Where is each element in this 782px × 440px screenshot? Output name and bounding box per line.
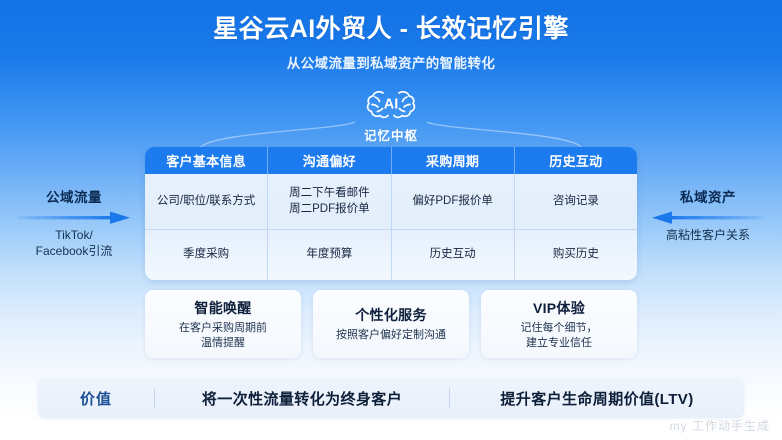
value-bar-key: 价值 — [38, 388, 154, 409]
feature-card-desc: 在客户采购周期前 温情提醒 — [179, 321, 267, 350]
matrix-column-header-1: 客户基本信息 — [145, 147, 268, 174]
value-bar: 价值 将一次性流量转化为终身客户 提升客户生命周期价值(LTV) — [38, 378, 744, 418]
private-asset-flow: 私域资产 高粘性客户关系 — [645, 186, 771, 244]
memory-hub: AI 记忆中枢 — [0, 84, 782, 144]
feature-card-desc-line2: 建立专业信任 — [521, 336, 598, 351]
matrix-cell-line: 公司/职位/联系方式 — [157, 194, 255, 210]
matrix-cell: 咨询记录 — [515, 174, 637, 229]
arrow-left-icon — [652, 211, 764, 224]
feature-card-title: VIP体验 — [533, 298, 585, 318]
feature-card-title: 智能唤醒 — [194, 298, 251, 318]
feature-card-personalized-service[interactable]: 个性化服务 按照客户偏好定制沟通 — [313, 290, 469, 358]
public-traffic-flow: 公域流量 TikTok/ Facebook引流 — [11, 186, 137, 259]
page-title: 星谷云AI外贸人 - 长效记忆引擎 — [0, 14, 782, 45]
matrix-cell: 周二下午看邮件 周二PDF报价单 — [268, 174, 391, 229]
feature-card-vip-experience[interactable]: VIP体验 记住每个细节， 建立专业信任 — [481, 290, 637, 358]
matrix-cell-line: 周二PDF报价单 — [289, 202, 370, 218]
svg-text:AI: AI — [384, 97, 399, 113]
memory-matrix-panel: 客户基本信息 沟通偏好 采购周期 历史互动 公司/职位/联系方式 周二下午看邮件… — [145, 147, 637, 280]
public-traffic-sub: TikTok/ Facebook引流 — [11, 228, 137, 259]
matrix-cell-line: 偏好PDF报价单 — [412, 194, 493, 210]
public-traffic-sub-line2: Facebook引流 — [11, 244, 137, 260]
matrix-column-header-4: 历史互动 — [515, 147, 637, 174]
watermark: my 工作动手生成 — [670, 417, 770, 434]
feature-card-desc: 按照客户偏好定制沟通 — [336, 328, 446, 343]
feature-card-desc-line1: 按照客户偏好定制沟通 — [336, 328, 446, 343]
matrix-cell: 购买历史 — [515, 230, 637, 280]
matrix-cell: 年度预算 — [268, 230, 391, 280]
feature-card-desc-line1: 记住每个细节， — [521, 321, 598, 336]
memory-hub-label: 记忆中枢 — [0, 125, 782, 144]
page-subtitle: 从公域流量到私域资产的智能转化 — [0, 52, 782, 72]
matrix-column-header-3: 采购周期 — [392, 147, 515, 174]
matrix-cell-line: 周二下午看邮件 — [289, 186, 370, 202]
private-asset-sub: 高粘性客户关系 — [645, 228, 771, 244]
brain-ai-icon: AI — [363, 84, 419, 124]
matrix-cell-line: 咨询记录 — [553, 194, 599, 210]
value-bar-item-1: 将一次性流量转化为终身客户 — [155, 388, 449, 409]
matrix-header-row: 客户基本信息 沟通偏好 采购周期 历史互动 — [145, 147, 637, 174]
matrix-cell-line: 购买历史 — [553, 247, 599, 263]
private-asset-title: 私域资产 — [645, 186, 771, 206]
public-traffic-title: 公域流量 — [11, 186, 137, 206]
matrix-cell-line: 年度预算 — [306, 247, 352, 263]
matrix-cell-line: 历史互动 — [430, 247, 476, 263]
feature-card-desc-line2: 温情提醒 — [179, 336, 267, 351]
public-traffic-sub-line1: TikTok/ — [11, 228, 137, 244]
matrix-cell: 历史互动 — [392, 230, 515, 280]
value-bar-item-2: 提升客户生命周期价值(LTV) — [450, 388, 744, 409]
matrix-cell: 公司/职位/联系方式 — [145, 174, 268, 229]
feature-card-smart-wakeup[interactable]: 智能唤醒 在客户采购周期前 温情提醒 — [145, 290, 301, 358]
feature-card-desc-line1: 在客户采购周期前 — [179, 321, 267, 336]
matrix-row: 公司/职位/联系方式 周二下午看邮件 周二PDF报价单 偏好PDF报价单 咨询记… — [145, 174, 637, 230]
matrix-cell: 季度采购 — [145, 230, 268, 280]
feature-card-title: 个性化服务 — [355, 305, 427, 325]
arrow-right-icon — [18, 211, 130, 224]
header: 星谷云AI外贸人 - 长效记忆引擎 从公域流量到私域资产的智能转化 — [0, 14, 782, 72]
matrix-row: 季度采购 年度预算 历史互动 购买历史 — [145, 230, 637, 280]
matrix-column-header-2: 沟通偏好 — [268, 147, 391, 174]
matrix-cell-line: 季度采购 — [183, 247, 229, 263]
feature-card-desc: 记住每个细节， 建立专业信任 — [521, 321, 598, 350]
poster-canvas: 星谷云AI外贸人 - 长效记忆引擎 从公域流量到私域资产的智能转化 AI 记忆中… — [0, 0, 782, 440]
matrix-cell: 偏好PDF报价单 — [392, 174, 515, 229]
feature-card-list: 智能唤醒 在客户采购周期前 温情提醒 个性化服务 按照客户偏好定制沟通 VIP体… — [145, 290, 637, 358]
